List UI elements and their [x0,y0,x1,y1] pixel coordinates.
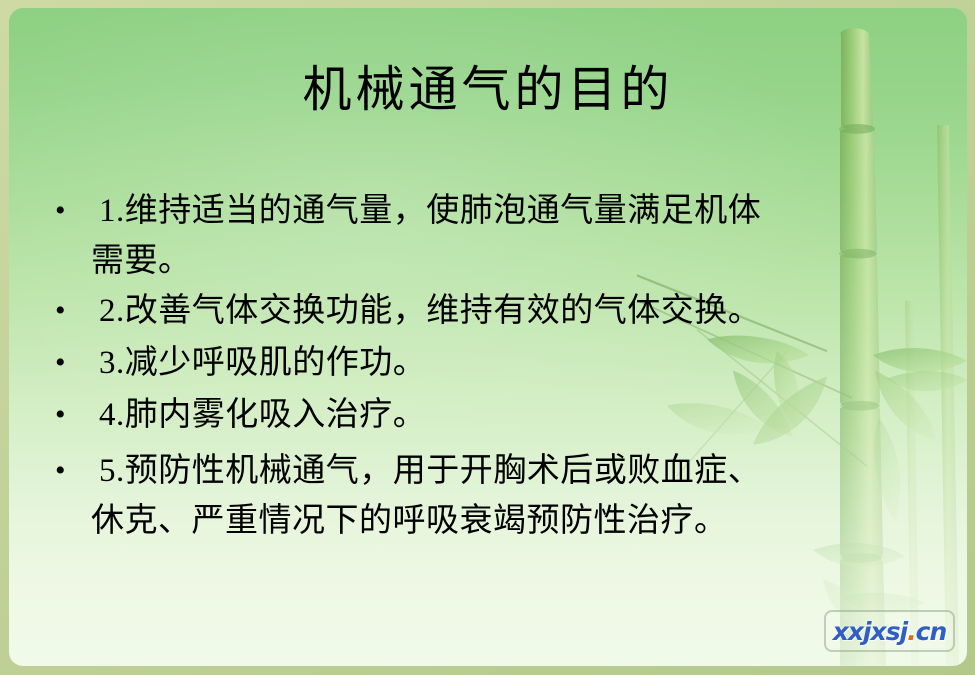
slide-title: 机械通气的目的 [9,63,967,117]
bullet-list: • 1.维持适当的通气量，使肺泡通气量满足机体 需要。 • 2.改善气体交换功能… [43,186,927,546]
bullet-text: 5.预防性机械通气，用于开胸术后或败血症、 休克、严重情况下的呼吸衰竭预防性治疗… [99,446,927,546]
bullet-line-wrap: 需要。 [91,236,927,286]
list-item: • 2.改善气体交换功能，维持有效的气体交换。 [43,286,927,336]
list-item: • 1.维持适当的通气量，使肺泡通气量满足机体 需要。 [43,186,927,286]
bullet-marker-icon: • [43,390,99,440]
watermark-text: xxjxsj.cn [833,617,947,646]
bullet-text: 1.维持适当的通气量，使肺泡通气量满足机体 需要。 [99,186,927,286]
bullet-marker-icon: • [43,286,99,336]
bullet-line: 1.维持适当的通气量，使肺泡通气量满足机体 [99,193,761,229]
site-watermark: xxjxsj.cn [824,610,955,652]
bullet-text: 4.肺内雾化吸入治疗。 [99,390,927,440]
list-item: • 4.肺内雾化吸入治疗。 [43,390,927,440]
bullet-marker-icon: • [43,446,99,496]
bullet-line: 2.改善气体交换功能，维持有效的气体交换。 [99,293,761,329]
bullet-marker-icon: • [43,338,99,388]
slide-canvas: 机械通气的目的 • 1.维持适当的通气量，使肺泡通气量满足机体 需要。 • 2.… [9,8,967,666]
bullet-text: 3.减少呼吸肌的作功。 [99,338,927,388]
bullet-text: 2.改善气体交换功能，维持有效的气体交换。 [99,286,927,336]
bullet-line: 5.预防性机械通气，用于开胸术后或败血症、 [99,453,761,489]
presentation-slide: 机械通气的目的 • 1.维持适当的通气量，使肺泡通气量满足机体 需要。 • 2.… [0,0,975,675]
bullet-marker-icon: • [43,186,99,236]
list-item: • 5.预防性机械通气，用于开胸术后或败血症、 休克、严重情况下的呼吸衰竭预防性… [43,446,927,546]
list-item: • 3.减少呼吸肌的作功。 [43,338,927,388]
bullet-line-wrap: 休克、严重情况下的呼吸衰竭预防性治疗。 [91,496,927,546]
bullet-line: 4.肺内雾化吸入治疗。 [99,397,426,433]
bullet-line: 3.减少呼吸肌的作功。 [99,345,426,381]
